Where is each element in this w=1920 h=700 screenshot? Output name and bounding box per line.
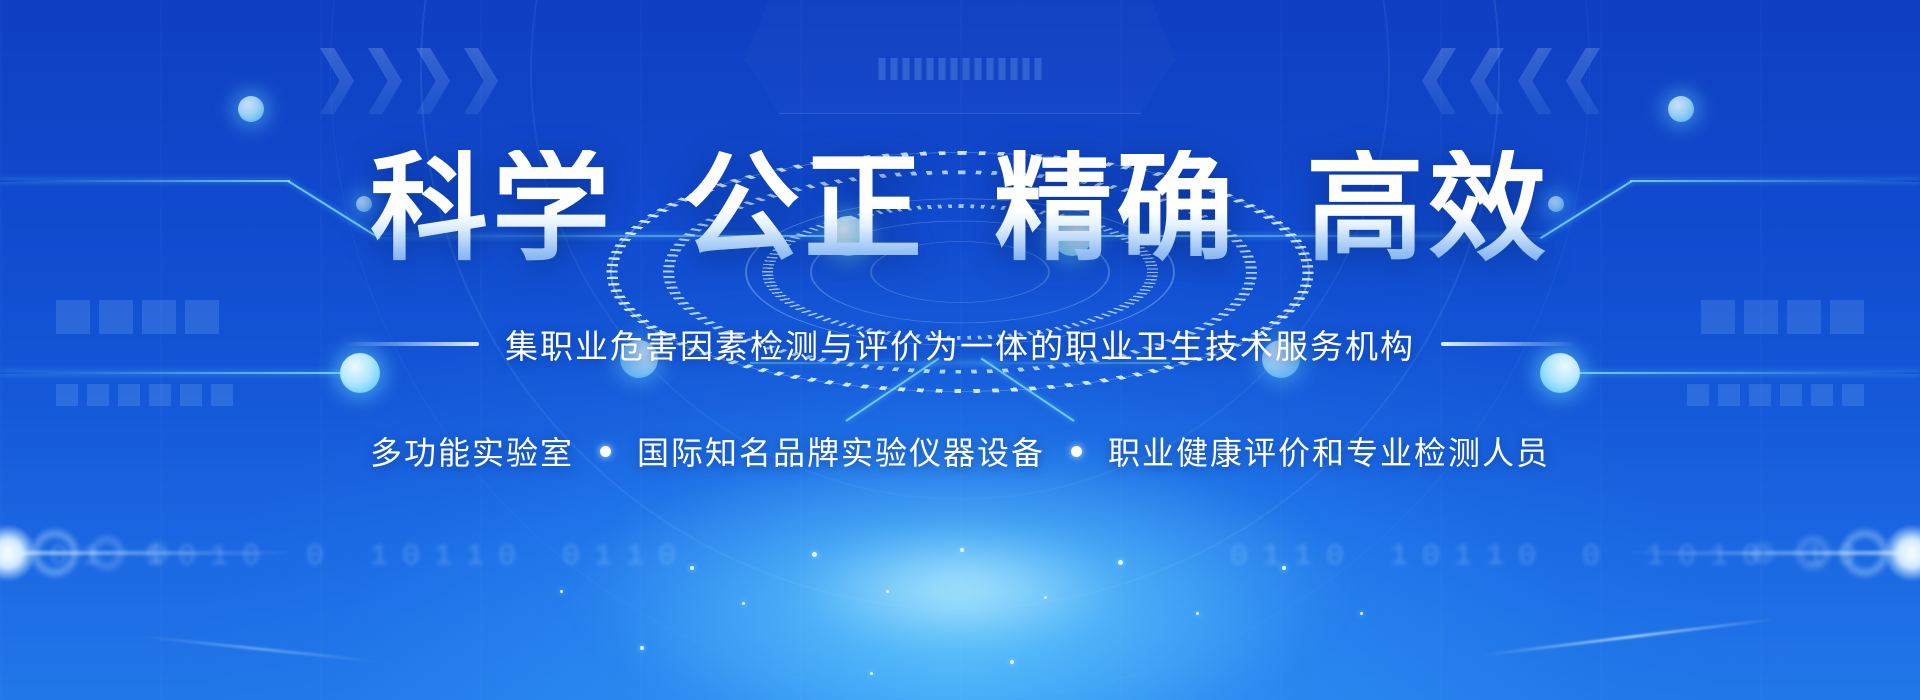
subtitle-row: 集职业危害因素检测与评价为一体的职业卫生技术服务机构 xyxy=(343,320,1577,368)
tagline-3: 职业健康评价和专业检测人员 xyxy=(1108,428,1550,474)
tagline-2: 国际知名品牌实验仪器设备 xyxy=(637,428,1045,474)
separator-line-left xyxy=(343,342,479,346)
banner-content: 科学 公正 精确 高效 集职业危害因素检测与评价为一体的职业卫生技术服务机构 多… xyxy=(0,0,1920,700)
headline-word-3: 精确 xyxy=(994,150,1238,268)
tagline-row: 多功能实验室 国际知名品牌实验仪器设备 职业健康评价和专业检测人员 xyxy=(370,428,1550,474)
headline: 科学 公正 精确 高效 xyxy=(370,150,1550,268)
headline-word-2: 公正 xyxy=(682,150,926,268)
headline-word-1: 科学 xyxy=(370,150,614,268)
bullet-dot-icon xyxy=(600,446,611,457)
hero-banner: 01 1010 0 10110 0110 0110 10110 0 1010 1… xyxy=(0,0,1920,700)
subtitle: 集职业危害因素检测与评价为一体的职业卫生技术服务机构 xyxy=(505,320,1415,368)
headline-word-4: 高效 xyxy=(1306,150,1550,268)
tagline-1: 多功能实验室 xyxy=(370,428,574,474)
bullet-dot-icon xyxy=(1071,446,1082,457)
separator-line-right xyxy=(1441,342,1577,346)
